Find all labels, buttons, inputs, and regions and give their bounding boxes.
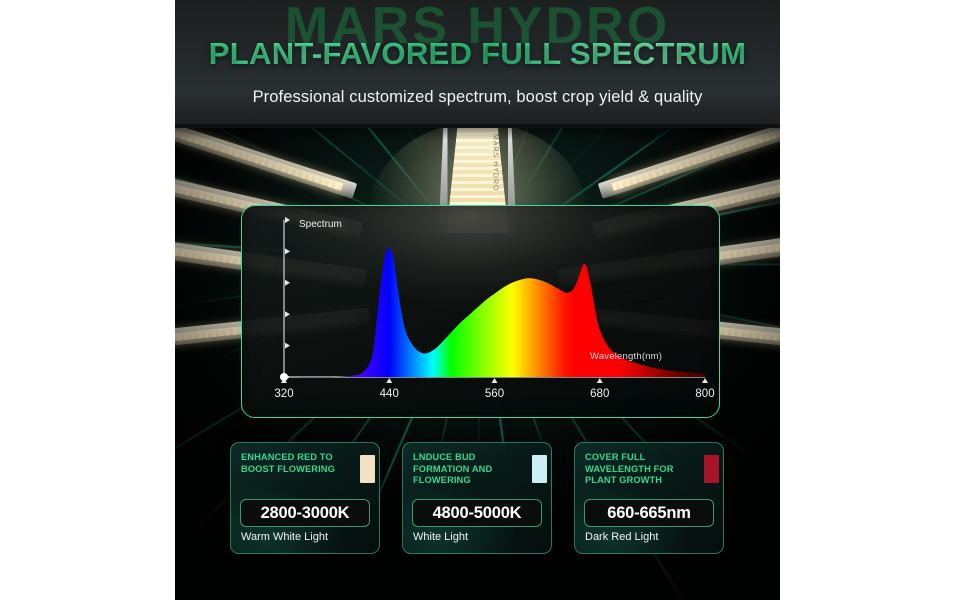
feature-card[interactable]: COVER FULL WAVELENGTH FOR PLANT GROWTH66… (574, 442, 724, 554)
x-axis-tick-label: 440 (380, 389, 399, 401)
card-title: ENHANCED RED TO BOOST FLOWERING (241, 452, 345, 475)
card-value: 2800-3000K (240, 499, 370, 527)
card-subtitle: Dark Red Light (585, 531, 658, 543)
page-subtitle: Professional customized spectrum, boost … (175, 88, 780, 107)
header-band: MARS HYDRO PLANT-FAVORED FULL SPECTRUM P… (175, 0, 780, 128)
x-axis-tick-label: 560 (485, 389, 504, 401)
feature-card[interactable]: LNDUCE BUD FORMATION AND FLOWERING4800-5… (402, 442, 552, 554)
color-swatch (360, 455, 375, 483)
card-value: 4800-5000K (412, 499, 542, 527)
x-axis-tick-label: 800 (695, 389, 714, 401)
feature-card[interactable]: ENHANCED RED TO BOOST FLOWERING2800-3000… (230, 442, 380, 554)
color-swatch (532, 455, 547, 483)
color-swatch (704, 455, 719, 483)
spectrum-chart-card: Spectrum 00.20.40.60.81.0 32044056068080… (241, 205, 720, 418)
x-axis-labels: 320440560680800 (242, 206, 719, 417)
page-title: PLANT-FAVORED FULL SPECTRUM (175, 36, 780, 72)
card-subtitle: Warm White Light (241, 531, 328, 543)
x-axis-tick-label: 320 (274, 389, 293, 401)
card-subtitle: White Light (413, 531, 468, 543)
feature-card-group: ENHANCED RED TO BOOST FLOWERING2800-3000… (230, 442, 730, 554)
card-value: 660-665nm (584, 499, 714, 527)
image-canvas: MARS HYDRO MARS HYDRO PLANT-FAVORED FULL… (0, 0, 960, 600)
card-title: LNDUCE BUD FORMATION AND FLOWERING (413, 452, 517, 487)
x-axis-title: Wavelength(nm) (590, 351, 662, 362)
card-title: COVER FULL WAVELENGTH FOR PLANT GROWTH (585, 452, 689, 487)
product-panel: MARS HYDRO MARS HYDRO PLANT-FAVORED FULL… (175, 0, 780, 600)
x-axis-tick-label: 680 (590, 389, 609, 401)
